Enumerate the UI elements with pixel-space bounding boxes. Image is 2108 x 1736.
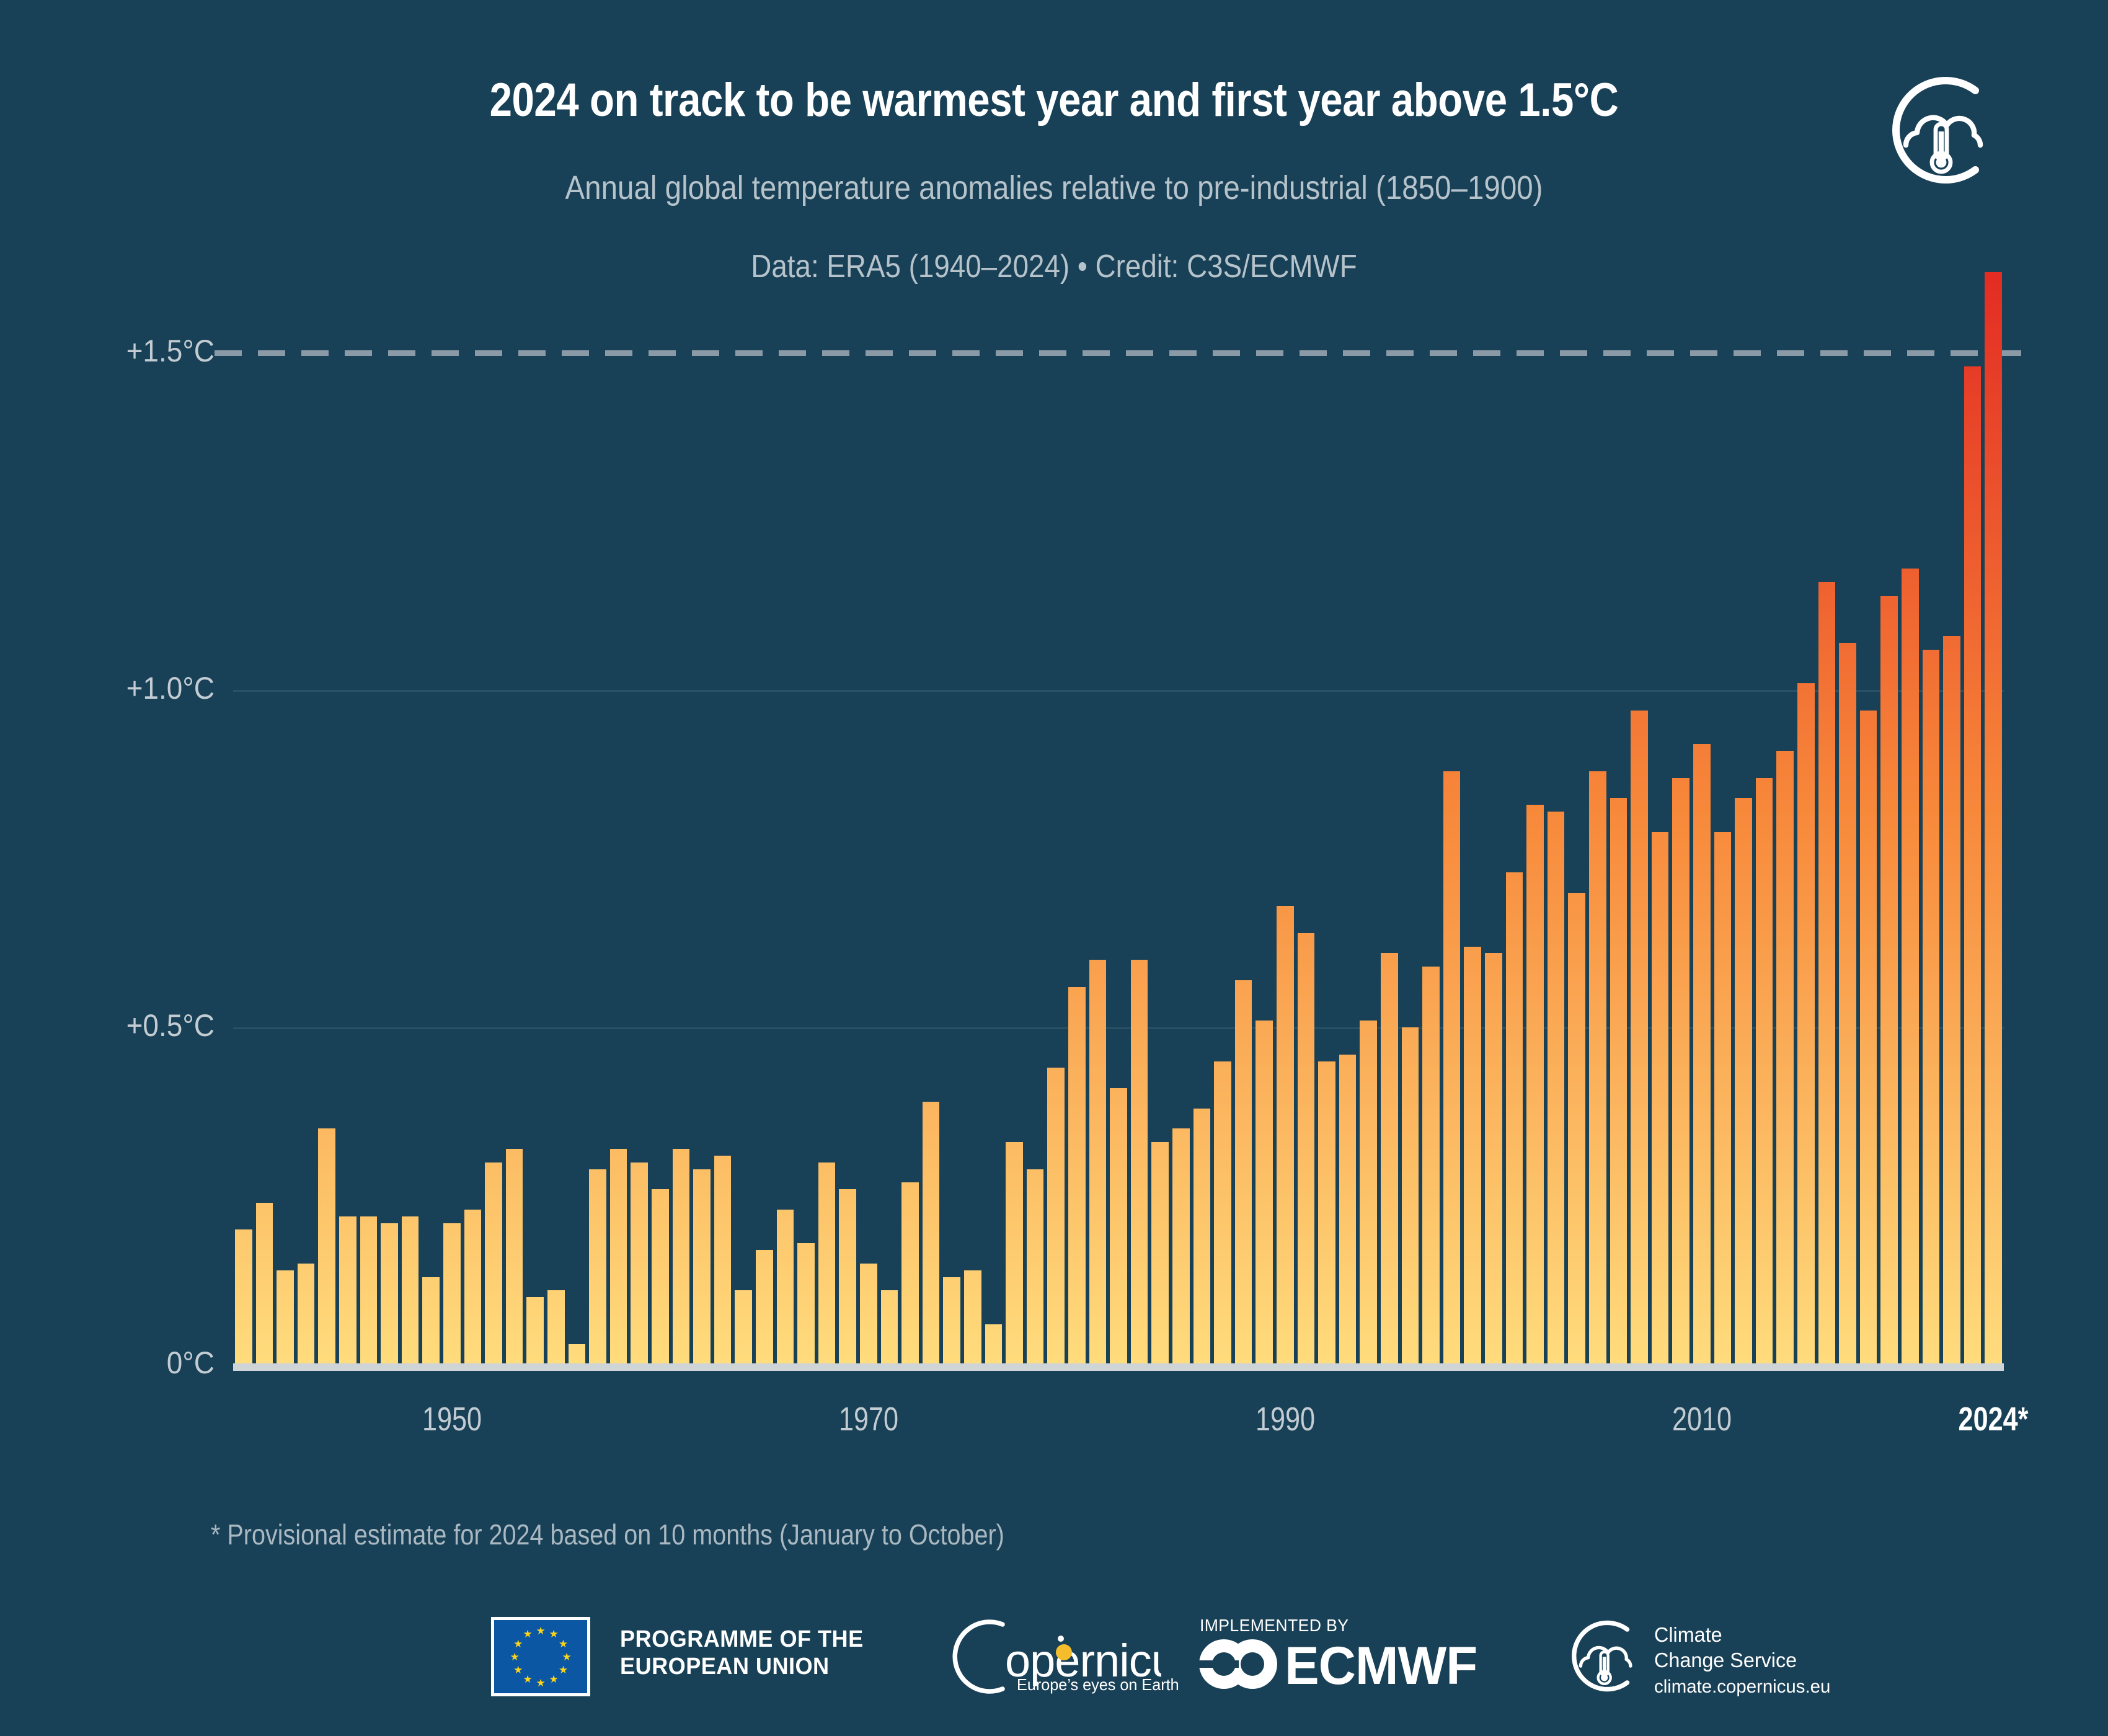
bar-1981[interactable] (1089, 960, 1107, 1365)
eu-star-icon: ★ (523, 1629, 533, 1639)
bar-1961[interactable] (673, 1149, 690, 1365)
bar-2013[interactable] (1756, 778, 1773, 1365)
bar-2020[interactable] (1902, 569, 1919, 1365)
bar-1969[interactable] (839, 1189, 856, 1365)
bar-1992[interactable] (1318, 1061, 1335, 1365)
bar-2015[interactable] (1797, 683, 1815, 1365)
bar-1986[interactable] (1193, 1109, 1211, 1365)
bar-2007[interactable] (1631, 711, 1648, 1365)
bar-1985[interactable] (1172, 1128, 1190, 1365)
bar-1975[interactable] (964, 1270, 981, 1365)
bar-1952[interactable] (485, 1162, 502, 1365)
c3s-cloud-thermometer-icon (1879, 68, 2003, 192)
eu-flag-icon: ★★★★★★★★★★★★ (491, 1617, 590, 1696)
bar-1999[interactable] (1464, 947, 1481, 1365)
eu-star-icon: ★ (513, 1639, 523, 1649)
eu-star-icon: ★ (559, 1665, 568, 1675)
bar-1991[interactable] (1298, 933, 1315, 1365)
eu-star-icon: ★ (513, 1665, 523, 1675)
chart-plot-area (233, 205, 2004, 1365)
bar-1959[interactable] (631, 1162, 648, 1365)
bar-1946[interactable] (360, 1216, 378, 1365)
bar-2018[interactable] (1860, 711, 1877, 1365)
bar-2001[interactable] (1506, 872, 1523, 1365)
eu-star-icon: ★ (559, 1639, 568, 1649)
bar-1990[interactable] (1277, 906, 1294, 1365)
bar-1970[interactable] (860, 1264, 877, 1365)
y-axis-tick-0°C: 0°C (43, 1345, 215, 1381)
bar-2022[interactable] (1943, 636, 1960, 1365)
eu-star-icon: ★ (536, 1678, 546, 1688)
bar-2005[interactable] (1589, 771, 1606, 1365)
bar-1976[interactable] (985, 1324, 1003, 1365)
eu-star-icon: ★ (510, 1652, 520, 1662)
bar-2006[interactable] (1610, 798, 1627, 1365)
bar-1957[interactable] (589, 1169, 606, 1365)
bar-2016[interactable] (1818, 582, 1836, 1365)
bar-1983[interactable] (1131, 960, 1148, 1365)
bar-1967[interactable] (797, 1243, 815, 1365)
bar-2002[interactable] (1526, 805, 1544, 1365)
eu-star-icon: ★ (549, 1675, 559, 1684)
footer-logo-bar: ★★★★★★★★★★★★ PROGRAMME OF THE EUROPEAN U… (0, 1612, 2108, 1736)
bar-2004[interactable] (1568, 893, 1585, 1365)
x-axis-tick-1970: 1970 (809, 1400, 928, 1438)
ecmwf-logo-icon (1198, 1638, 1278, 1690)
y-axis-tick-+1.5°C: +1.5°C (43, 333, 215, 369)
gridline-1 (233, 690, 2004, 692)
ecmwf-wordmark: ECMWF (1285, 1636, 1477, 1697)
bar-2008[interactable] (1652, 832, 1669, 1365)
bar-1940[interactable] (235, 1229, 252, 1365)
bar-2023[interactable] (1964, 366, 1982, 1365)
page-title: 2024 on track to be warmest year and fir… (148, 73, 1960, 127)
bar-1989[interactable] (1255, 1021, 1273, 1365)
bar-1994[interactable] (1360, 1021, 1377, 1365)
bar-1956[interactable] (569, 1344, 586, 1365)
bar-2009[interactable] (1672, 778, 1689, 1365)
bar-1953[interactable] (506, 1149, 523, 1365)
bar-1973[interactable] (923, 1102, 940, 1365)
bar-2024[interactable] (1985, 272, 2002, 1365)
bar-1947[interactable] (381, 1223, 398, 1365)
x-axis-tick-2010: 2010 (1642, 1400, 1761, 1438)
bar-2021[interactable] (1923, 650, 1940, 1365)
x-axis-tick-2024*: 2024* (1934, 1400, 2053, 1438)
bar-1942[interactable] (277, 1270, 294, 1365)
bar-1963[interactable] (714, 1156, 732, 1365)
bar-2014[interactable] (1776, 751, 1794, 1365)
y-axis-tick-+0.5°C: +0.5°C (43, 1007, 215, 1043)
bar-1944[interactable] (318, 1128, 335, 1365)
bar-1950[interactable] (443, 1223, 461, 1365)
bar-1948[interactable] (402, 1216, 419, 1365)
threshold-line-1p5 (215, 350, 2031, 356)
bar-1966[interactable] (777, 1210, 794, 1365)
bar-2011[interactable] (1714, 832, 1732, 1365)
bar-2003[interactable] (1548, 812, 1565, 1365)
bar-1958[interactable] (610, 1149, 627, 1365)
c3s-name-line1: Climate (1654, 1622, 1797, 1647)
bar-1972[interactable] (901, 1182, 919, 1365)
eu-programme-line1: PROGRAMME OF THE (620, 1626, 864, 1653)
bar-1984[interactable] (1151, 1142, 1169, 1365)
c3s-cloud-thermometer-icon (1562, 1614, 1645, 1698)
bar-1965[interactable] (756, 1250, 773, 1365)
bar-2019[interactable] (1880, 596, 1898, 1365)
bar-1945[interactable] (339, 1216, 356, 1365)
bar-1949[interactable] (422, 1277, 440, 1365)
bar-1960[interactable] (652, 1189, 669, 1365)
eu-star-icon: ★ (549, 1629, 559, 1639)
bar-1951[interactable] (464, 1210, 482, 1365)
x-axis-tick-1950: 1950 (392, 1400, 511, 1438)
bar-1955[interactable] (547, 1290, 565, 1365)
bar-1962[interactable] (693, 1169, 711, 1365)
chart-footnote: * Provisional estimate for 2024 based on… (211, 1518, 1004, 1551)
eu-programme-label: PROGRAMME OF THE EUROPEAN UNION (620, 1626, 864, 1680)
c3s-name-label: Climate Change Service (1654, 1622, 1797, 1673)
y-axis-tick-+1.0°C: +1.0°C (43, 670, 215, 706)
c3s-name-line2: Change Service (1654, 1647, 1797, 1673)
bar-1998[interactable] (1443, 771, 1461, 1365)
bar-1995[interactable] (1381, 953, 1398, 1365)
bar-1941[interactable] (256, 1203, 273, 1365)
implemented-by-label: IMPLEMENTED BY (1200, 1616, 1348, 1636)
x-axis-line (233, 1363, 2004, 1371)
eu-star-icon: ★ (536, 1626, 546, 1636)
bar-1943[interactable] (298, 1264, 315, 1365)
bar-1977[interactable] (1006, 1142, 1023, 1365)
copernicus-tagline: Europe’s eyes on Earth (1017, 1675, 1179, 1694)
bar-1971[interactable] (881, 1290, 898, 1365)
bar-1964[interactable] (735, 1290, 752, 1365)
bar-1988[interactable] (1235, 980, 1252, 1365)
c3s-url-label[interactable]: climate.copernicus.eu (1654, 1676, 1830, 1698)
bar-1987[interactable] (1214, 1061, 1231, 1365)
bar-1996[interactable] (1402, 1027, 1419, 1365)
eu-star-icon: ★ (523, 1675, 533, 1684)
bar-1978[interactable] (1027, 1169, 1044, 1365)
bar-1993[interactable] (1339, 1055, 1357, 1365)
bar-1997[interactable] (1422, 967, 1440, 1365)
chart-subtitle: Annual global temperature anomalies rela… (126, 169, 1982, 207)
bar-2000[interactable] (1485, 953, 1502, 1365)
bar-1974[interactable] (943, 1277, 960, 1365)
bar-1968[interactable] (818, 1162, 836, 1365)
eu-star-icon: ★ (562, 1652, 572, 1662)
eu-programme-line2: EUROPEAN UNION (620, 1653, 864, 1680)
bar-2017[interactable] (1839, 643, 1856, 1365)
y-axis-labels: 0°C+0.5°C+1.0°C+1.5°C (19, 0, 215, 1736)
bar-1982[interactable] (1110, 1088, 1127, 1365)
x-axis-tick-1990: 1990 (1226, 1400, 1345, 1438)
bar-2012[interactable] (1735, 798, 1752, 1365)
bar-1980[interactable] (1068, 987, 1086, 1365)
bar-1979[interactable] (1047, 1068, 1065, 1365)
bar-1954[interactable] (526, 1297, 544, 1365)
bar-2010[interactable] (1693, 744, 1711, 1365)
